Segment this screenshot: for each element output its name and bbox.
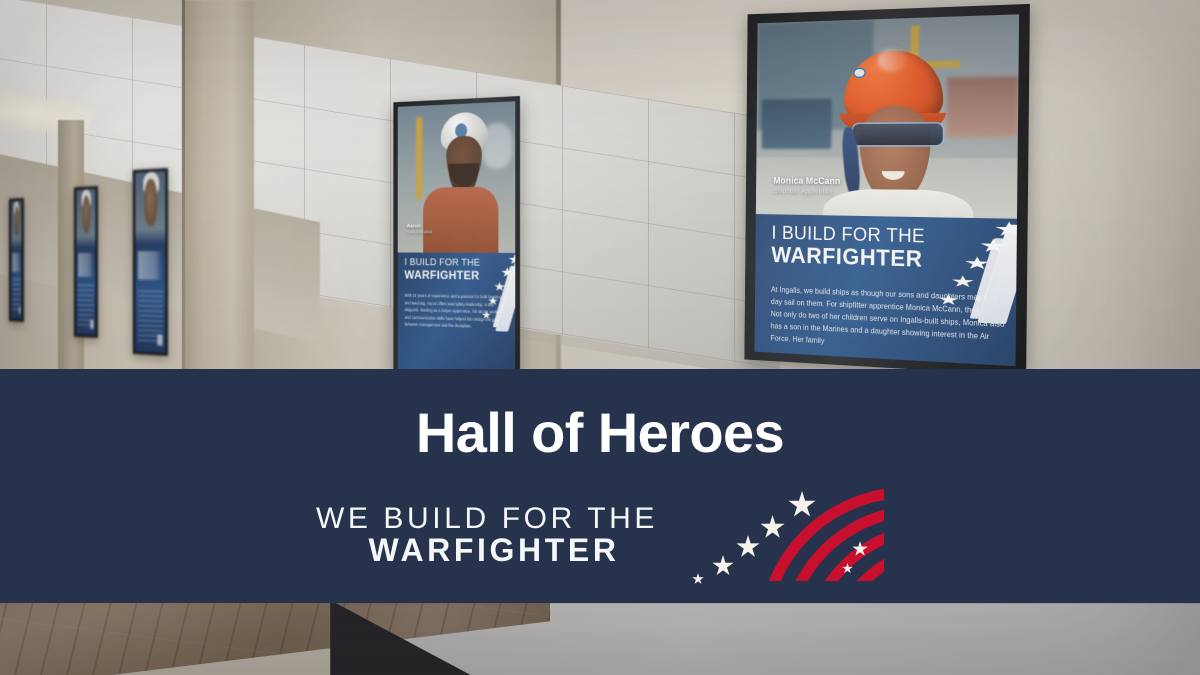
- brand-mark: [157, 334, 162, 345]
- portrait-shape: [14, 206, 18, 237]
- poster-monica-headline: I BUILD FOR THE WARFIGHTER: [771, 224, 925, 271]
- star-icon: [938, 294, 959, 306]
- poster-aaron-caption: Aaron Craft Instructor: [407, 223, 433, 235]
- hardhat-decal: [853, 68, 866, 78]
- poster-aaron-photo: Aaron Craft Instructor: [398, 101, 516, 253]
- poster-distant-4: [74, 186, 98, 338]
- hall-of-heroes-image: Aaron Craft Instructor I BUILD FOR THE W…: [0, 0, 1200, 675]
- headline-block: [78, 253, 94, 276]
- poster-monica-caption: Monica McCann Shipfitter Apprentice: [773, 176, 840, 196]
- lockup-line-1: WE BUILD FOR THE: [316, 503, 658, 534]
- brand-mark: [90, 320, 93, 329]
- portrait-shape: [144, 179, 157, 226]
- lockup-line-2: WARFIGHTER: [316, 534, 658, 567]
- stars-and-stripes-swoosh-icon: [918, 223, 1017, 323]
- page-title: Hall of Heroes: [416, 405, 784, 461]
- headline-block: [12, 253, 20, 272]
- poster-distant-5: [9, 198, 24, 322]
- star-icon: [482, 311, 491, 319]
- white-polo-shirt: [823, 189, 974, 219]
- worker-portrait: [841, 49, 958, 218]
- poster-distant-4-content: [76, 189, 95, 335]
- person-role: Shipfitter Apprentice: [773, 187, 840, 196]
- stars-and-stripes-swoosh-logo: [684, 489, 884, 581]
- star-icon: [488, 296, 498, 305]
- shirt-shape: [423, 187, 498, 253]
- safety-glasses: [853, 123, 943, 145]
- poster-aaron: Aaron Craft Instructor I BUILD FOR THE W…: [393, 96, 520, 386]
- poster-aaron-headline: I BUILD FOR THE WARFIGHTER: [405, 259, 481, 282]
- poster-monica-photo: Monica McCann Shipfitter Apprentice: [756, 14, 1019, 219]
- poster-distant-3: [133, 168, 168, 356]
- portrait-shape: [82, 195, 90, 233]
- star-icon: [951, 275, 974, 288]
- title-banner: Hall of Heroes WE BUILD FOR THE WARFIGHT…: [0, 369, 1200, 603]
- red-stripes-group: [684, 489, 884, 581]
- brand-mark: [19, 307, 21, 314]
- smile-shape: [882, 171, 905, 181]
- headline-line-2: WARFIGHTER: [405, 268, 481, 281]
- person-role: Craft Instructor: [407, 230, 433, 235]
- hardhat-highlight: [877, 48, 907, 72]
- headline-block: [138, 251, 163, 280]
- face-shape: [859, 105, 932, 202]
- stars-and-stripes-swoosh-icon: [472, 255, 515, 330]
- crane-shape: [416, 117, 422, 199]
- poster-distant-5-content: [11, 201, 21, 319]
- poster-monica-mccann: Monica McCann Shipfitter Apprentice I BU…: [744, 4, 1030, 376]
- poster-monica-panel: I BUILD FOR THE WARFIGHTER At Ingalls, w…: [755, 214, 1017, 366]
- brand-lockup: WE BUILD FOR THE WARFIGHTER: [316, 489, 884, 581]
- poster-distant-3-content: [135, 171, 165, 353]
- shipyard-vehicle-shape: [761, 99, 831, 150]
- brand-lockup-words: WE BUILD FOR THE WARFIGHTER: [316, 503, 658, 567]
- headline-line-2: WARFIGHTER: [771, 243, 925, 271]
- poster-aaron-panel: I BUILD FOR THE WARFIGHTER With 31 years…: [398, 252, 516, 380]
